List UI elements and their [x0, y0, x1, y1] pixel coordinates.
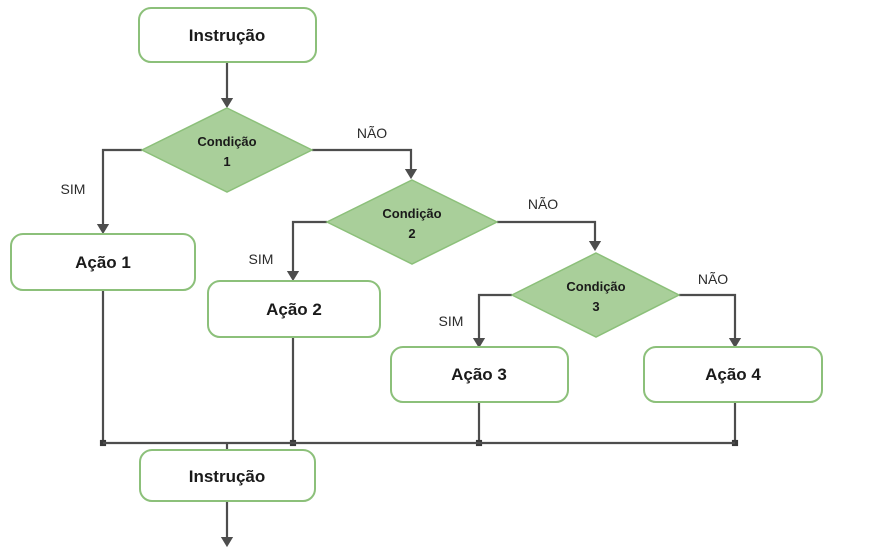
node-action-3[interactable]: Ação 3 — [391, 347, 568, 402]
node-start-instruction[interactable]: Instrução — [139, 8, 316, 62]
condition-3-diamond[interactable] — [512, 253, 679, 337]
condition-2-label-line2: 2 — [408, 226, 415, 241]
node-condition-2[interactable]: Condição 2 — [327, 180, 497, 264]
condition-2-label-line1: Condição — [382, 206, 441, 221]
node-action-2[interactable]: Ação 2 — [208, 281, 380, 337]
end-instruction-label: Instrução — [189, 467, 266, 486]
condition-1-label-line1: Condição — [197, 134, 256, 149]
node-condition-1[interactable]: Condição 1 — [142, 108, 312, 192]
condition-3-label-line2: 3 — [592, 299, 599, 314]
edge-label-nao-3: NÃO — [698, 271, 728, 287]
condition-1-diamond[interactable] — [142, 108, 312, 192]
edge-label-nao-2: NÃO — [528, 196, 558, 212]
start-instruction-label: Instrução — [189, 26, 266, 45]
condition-3-label-line1: Condição — [566, 279, 625, 294]
node-action-4[interactable]: Ação 4 — [644, 347, 822, 402]
connector-condition2-sim-to-action2 — [293, 222, 327, 278]
condition-1-label-line2: 1 — [223, 154, 230, 169]
edge-label-sim-3: SIM — [439, 313, 464, 329]
condition-2-diamond[interactable] — [327, 180, 497, 264]
node-action-1[interactable]: Ação 1 — [11, 234, 195, 290]
connector-condition3-nao-to-action4 — [679, 295, 735, 345]
flowchart-svg: Instrução Condição 1 Condição 2 Condição… — [0, 0, 877, 551]
action-2-label: Ação 2 — [266, 300, 322, 319]
edge-label-nao-1: NÃO — [357, 125, 387, 141]
connector-condition1-nao-to-condition2 — [312, 150, 411, 176]
node-end-instruction[interactable]: Instrução — [140, 450, 315, 501]
action-3-label: Ação 3 — [451, 365, 507, 384]
connector-condition2-nao-to-condition3 — [497, 222, 595, 248]
connector-condition3-sim-to-action3 — [479, 295, 512, 345]
edge-label-sim-2: SIM — [249, 251, 274, 267]
edge-label-sim-1: SIM — [61, 181, 86, 197]
connector-condition1-sim-to-action1 — [103, 150, 142, 231]
node-condition-3[interactable]: Condição 3 — [512, 253, 679, 337]
action-4-label: Ação 4 — [705, 365, 761, 384]
flowchart-canvas: Instrução Condição 1 Condição 2 Condição… — [0, 0, 877, 551]
action-1-label: Ação 1 — [75, 253, 131, 272]
